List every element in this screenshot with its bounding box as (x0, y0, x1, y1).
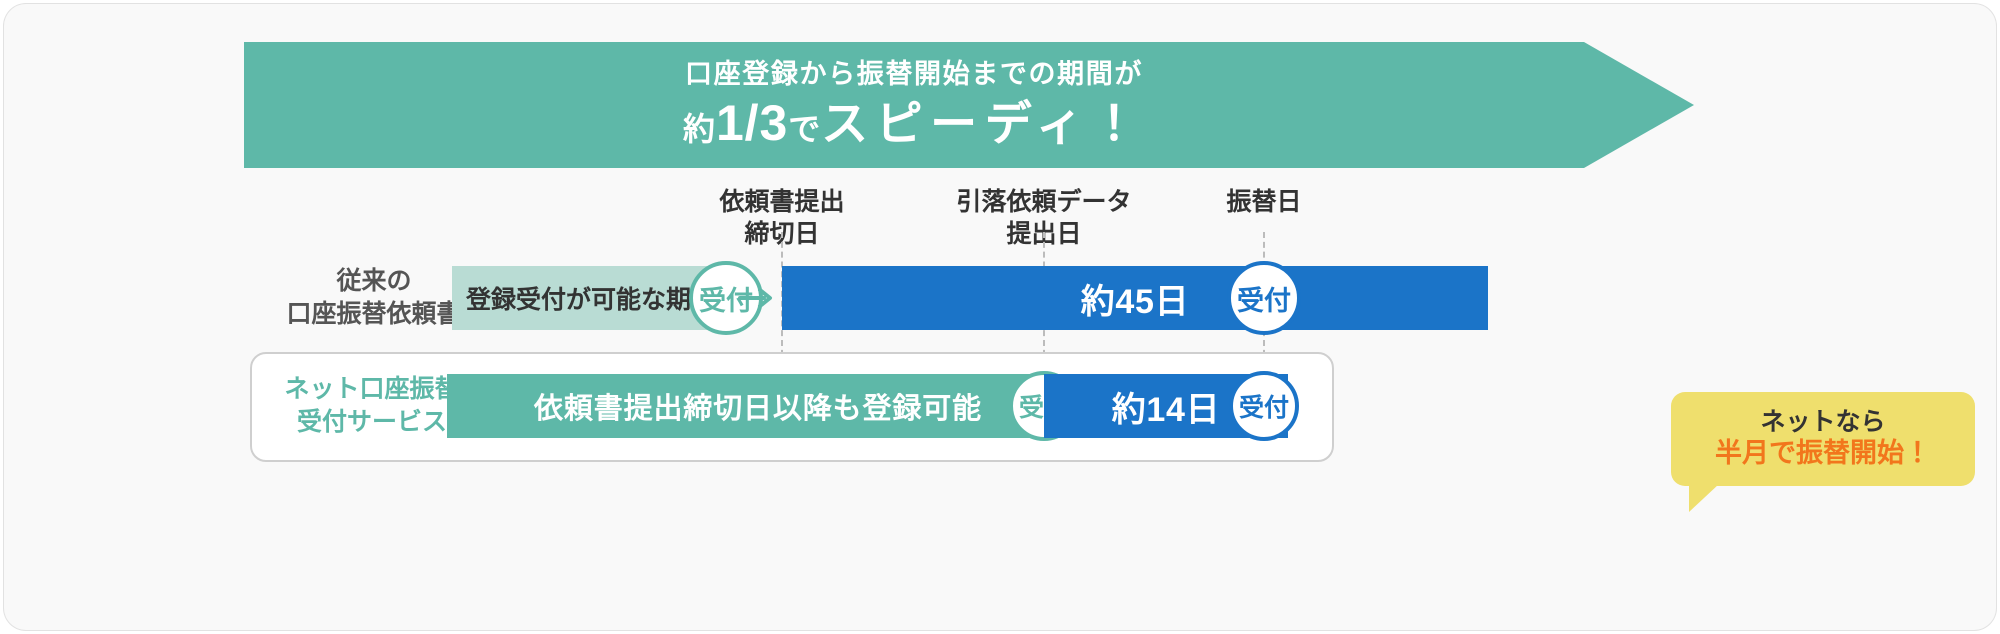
banner-emphasis-tail: スピーディ！ (821, 99, 1145, 150)
row1-end-accept-badge-label: 受付 (1237, 279, 1291, 318)
row1-duration-label: 約45日 (1081, 274, 1190, 323)
row2-end-accept-badge-label: 受付 (1239, 388, 1289, 424)
milestone-label-3: 振替日 (1226, 186, 1301, 218)
row-label-traditional: 従来の 口座振替依頼書 (286, 265, 461, 331)
row1-transition-arrow-icon (738, 285, 774, 311)
row2-duration-label: 約14日 (1112, 382, 1221, 431)
row1-accept-window-label: 登録受付が可能な期間 (466, 280, 716, 316)
milestone-3-line1: 振替日 (1226, 186, 1301, 218)
row2-label-line2: 受付サービス (284, 406, 459, 439)
row-label-net-service: ネット口座振替 受付サービス (284, 373, 459, 439)
banner-emphasis: 約1/3でスピーディ！ (683, 96, 1145, 150)
row1-accept-window-bar: 登録受付が可能な期間 (452, 266, 722, 330)
row2-end-accept-badge: 受付 (1229, 371, 1299, 441)
banner-emphasis-mid: で (788, 112, 821, 147)
net-service-callout: ネットなら 半月で振替開始！ (1671, 392, 1975, 486)
banner-headline: 口座登録から振替開始までの期間が (685, 60, 1143, 89)
banner-emphasis-number: 1/3 (716, 96, 788, 150)
milestone-1-line1: 依頼書提出 (719, 186, 844, 218)
row1-end-accept-badge: 受付 (1227, 261, 1301, 335)
milestone-2-line1: 引落依頼データ (956, 186, 1131, 218)
infographic-card: 口座登録から振替開始までの期間が 約1/3でスピーディ！ 依頼書提出 締切日 引… (4, 4, 1996, 630)
callout-line1: ネットなら (1760, 408, 1885, 438)
banner-text-group: 口座登録から振替開始までの期間が 約1/3でスピーディ！ (244, 42, 1584, 168)
headline-banner: 口座登録から振替開始までの期間が 約1/3でスピーディ！ (244, 42, 1694, 168)
row1-label-line2: 口座振替依頼書 (286, 298, 461, 331)
row1-duration-bar: 約45日 (782, 266, 1488, 330)
callout-line2: 半月で振替開始！ (1715, 438, 1931, 470)
row2-accept-window-bar: 依頼書提出締切日以降も登録可能 (447, 374, 1069, 438)
banner-emphasis-prefix: 約 (683, 112, 716, 147)
callout-tail (1689, 484, 1719, 512)
row1-label-line1: 従来の (286, 265, 461, 298)
row2-accept-window-label: 依頼書提出締切日以降も登録可能 (534, 385, 982, 427)
row2-label-line1: ネット口座振替 (284, 373, 459, 406)
